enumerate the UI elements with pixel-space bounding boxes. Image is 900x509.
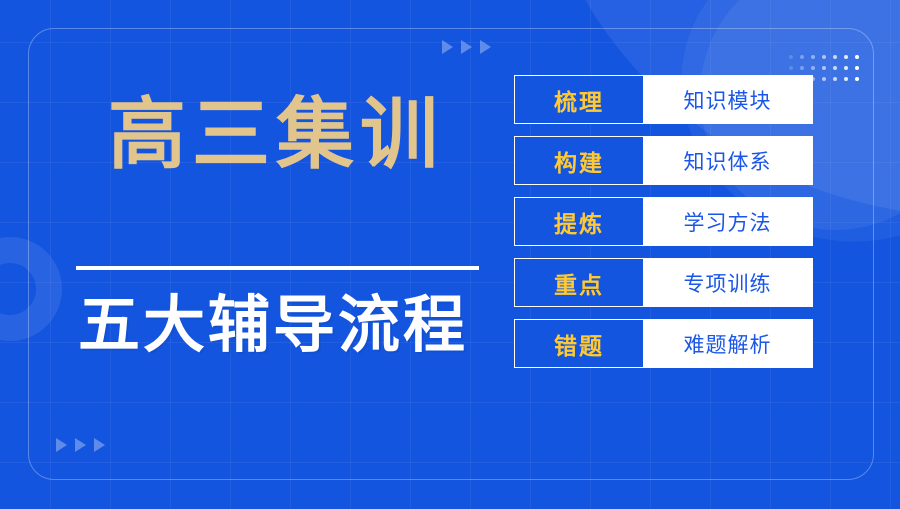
- process-row-value: 学习方法: [643, 198, 812, 245]
- headline-block: 高三集训 五大辅导流程: [0, 0, 500, 509]
- banner-title: 高三集训: [108, 95, 444, 173]
- dot-icon: [822, 55, 826, 59]
- dot-icon: [833, 77, 837, 81]
- process-row[interactable]: 重点专项训练: [514, 258, 813, 307]
- process-row-key: 提炼: [515, 198, 643, 245]
- dot-icon: [789, 66, 793, 70]
- dot-icon: [800, 66, 804, 70]
- process-row-key: 梳理: [515, 76, 643, 123]
- process-row-key: 重点: [515, 259, 643, 306]
- dot-icon: [844, 55, 848, 59]
- dot-icon: [855, 66, 859, 70]
- dot-icon: [822, 77, 826, 81]
- process-row-value: 难题解析: [643, 320, 812, 367]
- banner-subtitle: 五大辅导流程: [78, 295, 468, 357]
- process-row-value: 知识模块: [643, 76, 812, 123]
- process-row-value: 专项训练: [643, 259, 812, 306]
- process-row[interactable]: 构建知识体系: [514, 136, 813, 185]
- dot-icon: [833, 55, 837, 59]
- dot-icon: [800, 55, 804, 59]
- process-row[interactable]: 梳理知识模块: [514, 75, 813, 124]
- dot-icon: [811, 55, 815, 59]
- dot-icon: [833, 66, 837, 70]
- dot-icon: [822, 66, 826, 70]
- dot-icon: [789, 55, 793, 59]
- dot-icon: [811, 66, 815, 70]
- dot-icon: [844, 77, 848, 81]
- dot-icon: [855, 77, 859, 81]
- dot-icon: [855, 55, 859, 59]
- promo-banner: 高三集训 五大辅导流程 梳理知识模块构建知识体系提炼学习方法重点专项训练错题难题…: [0, 0, 900, 509]
- process-row[interactable]: 提炼学习方法: [514, 197, 813, 246]
- process-row-value: 知识体系: [643, 137, 812, 184]
- title-divider: [76, 266, 479, 270]
- process-list: 梳理知识模块构建知识体系提炼学习方法重点专项训练错题难题解析: [514, 75, 813, 368]
- process-row-key: 构建: [515, 137, 643, 184]
- process-row[interactable]: 错题难题解析: [514, 319, 813, 368]
- process-row-key: 错题: [515, 320, 643, 367]
- dot-icon: [844, 66, 848, 70]
